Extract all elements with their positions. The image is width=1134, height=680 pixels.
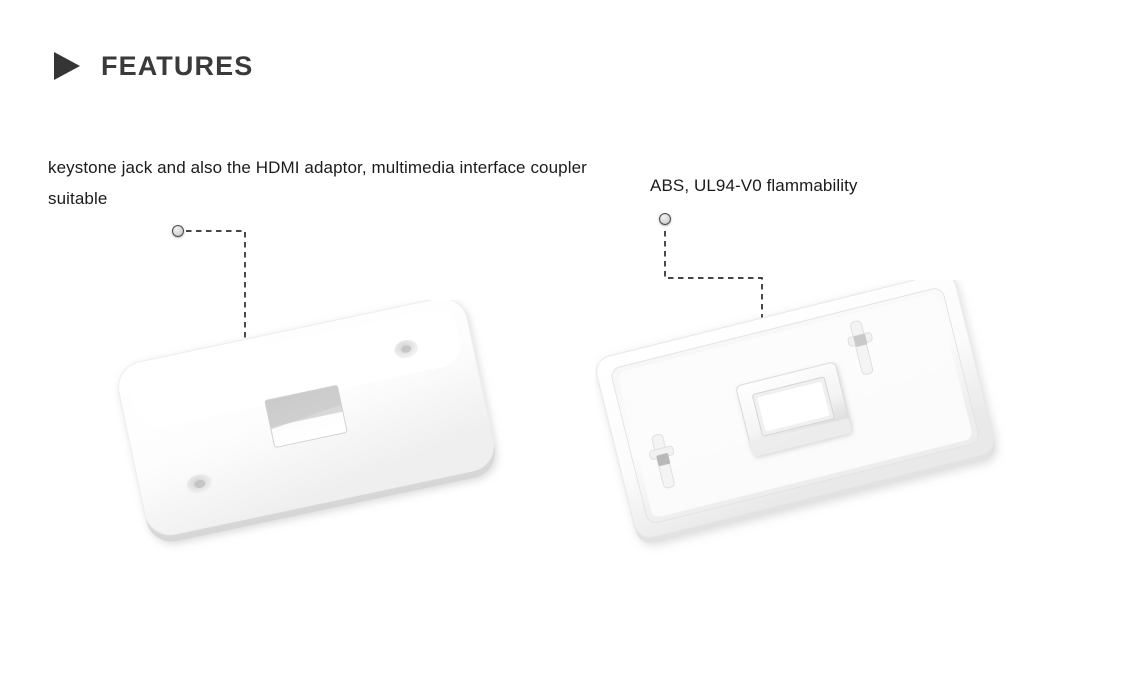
callout-dot-icon-right <box>659 213 671 225</box>
single-port-wall-plate-front <box>110 300 510 565</box>
callout-label-right: ABS, UL94-V0 flammability <box>650 170 1070 201</box>
callout-label-left: keystone jack and also the HDMI adaptor,… <box>48 152 608 214</box>
callout-dot-icon-left <box>172 225 184 237</box>
features-page: FEATURES keystone jack and also the HDMI… <box>0 0 1134 680</box>
single-port-wall-plate-back <box>595 280 1005 565</box>
page-title: FEATURES <box>101 53 253 80</box>
page-header: FEATURES <box>54 52 253 80</box>
play-triangle-icon <box>54 52 80 80</box>
